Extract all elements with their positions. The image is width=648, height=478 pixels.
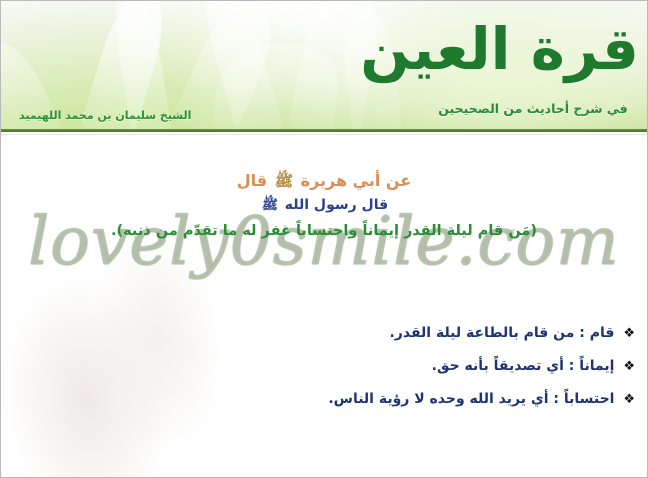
sallallahu-icon: ﷺ bbox=[260, 198, 280, 213]
diamond-bullet-icon: ❖ bbox=[619, 326, 635, 341]
list-item: ❖ إيماناً : أي تصديقاً بأنه حق. bbox=[15, 350, 635, 383]
header-divider-rule bbox=[1, 129, 647, 132]
hadith-said-text: قال رسول الله bbox=[285, 197, 388, 213]
hadith-card-page: قرة العين في شرح أحاديث من الصحيحين الشي… bbox=[0, 0, 648, 478]
explanation-list: ❖ قام : من قام بالطاعة ليلة القدر. ❖ إيم… bbox=[15, 317, 635, 416]
diamond-bullet-icon: ❖ bbox=[619, 392, 635, 407]
author-name: الشيخ سليمان بن محمد اللهيميد bbox=[19, 109, 191, 122]
diamond-bullet-icon: ❖ bbox=[619, 359, 635, 374]
list-item-label: احتساباً : أي يريد الله وحده لا رؤية الن… bbox=[328, 391, 614, 407]
list-item-label: إيماناً : أي تصديقاً بأنه حق. bbox=[432, 358, 615, 374]
site-logo-subtitle: في شرح أحاديث من الصحيحين bbox=[433, 101, 633, 116]
list-item: ❖ احتساباً : أي يريد الله وحده لا رؤية ا… bbox=[15, 383, 635, 416]
hadith-narrator-text: عن أبي هريرة bbox=[301, 171, 412, 190]
hadith-body-text: (مَن قام ليلة القدر إيماناً واحتساباً غف… bbox=[1, 218, 647, 244]
header-banner: قرة العين في شرح أحاديث من الصحيحين الشي… bbox=[1, 1, 647, 132]
list-item-label: قام : من قام بالطاعة ليلة القدر. bbox=[389, 325, 614, 341]
list-item: ❖ قام : من قام بالطاعة ليلة القدر. bbox=[15, 317, 635, 350]
site-logo-title: قرة العين bbox=[433, 3, 639, 95]
hadith-block: عن أبي هريرة ﷺ قال قال رسول الله ﷺ (مَن … bbox=[1, 169, 647, 244]
hadith-said-line: قال رسول الله ﷺ bbox=[1, 193, 647, 218]
hadith-narrator-line: عن أبي هريرة ﷺ قال bbox=[1, 169, 647, 193]
hadith-narrator-tail: قال bbox=[237, 171, 267, 190]
sallallahu-icon: ﷺ bbox=[273, 172, 295, 190]
content-area: lovely0smile.com عن أبي هريرة ﷺ قال قال … bbox=[1, 135, 647, 477]
